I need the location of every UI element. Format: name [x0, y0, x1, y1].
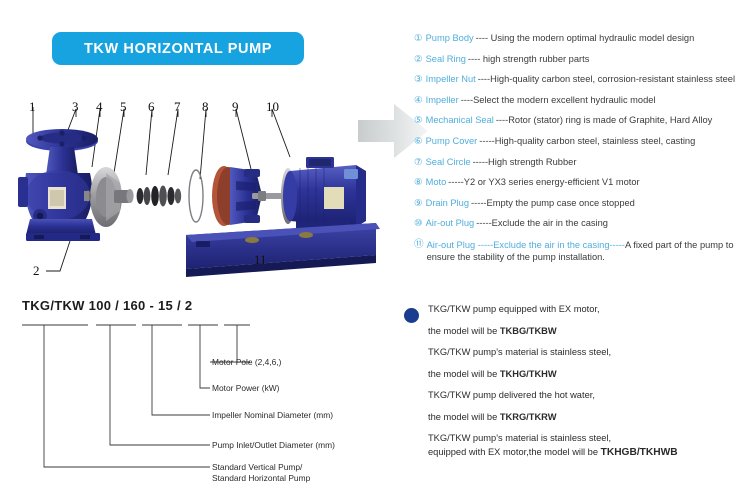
- exploded-pump-diagram: 1 3 4 5 6 7 8 9 10 2 11: [0, 95, 400, 290]
- note-text-1b: the model will be: [428, 326, 500, 336]
- pump-brochure-page: TKW HORIZONTAL PUMP: [0, 0, 756, 500]
- legend-marker-4: ④: [414, 95, 423, 106]
- seal-circle-part: [189, 170, 203, 222]
- page-title: TKW HORIZONTAL PUMP: [84, 41, 272, 57]
- note-line-2a: TKG/TKW pump's material is stainless ste…: [428, 347, 756, 358]
- impeller-nut-part: [84, 191, 91, 202]
- legend-marker-6: ⑥: [414, 136, 423, 147]
- legend-part-10: Air-out Plug: [426, 218, 475, 229]
- note-text-1a: TKG/TKW pump equipped with EX motor,: [428, 304, 600, 314]
- model-notes-block: TKG/TKW pump equipped with EX motor, the…: [404, 304, 756, 468]
- legend-item-11: ⑪ Air-out Plug -----Exclude the air in t…: [414, 239, 756, 264]
- callout-11: 11: [254, 253, 267, 266]
- callout-10: 10: [266, 100, 279, 113]
- title-banner: TKW HORIZONTAL PUMP: [52, 32, 304, 65]
- callout-3: 3: [72, 100, 79, 113]
- note-code-3b: TKRG/TKRW: [500, 412, 557, 422]
- legend-marker-10: ⑩: [414, 218, 423, 229]
- callout-5: 5: [120, 100, 127, 113]
- nom-label-motor-pole: Motor Pole (2,4,6,): [212, 357, 281, 368]
- model-notes-lines: TKG/TKW pump equipped with EX motor, the…: [428, 304, 756, 458]
- callout-9: 9: [232, 100, 239, 113]
- legend-part-5: Mechanical Seal: [426, 115, 494, 126]
- pump-illustration: [0, 95, 400, 290]
- legend-desc-8: -----Y2 or YX3 series energy-efficient V…: [448, 177, 639, 188]
- pump-body-part: [18, 129, 100, 241]
- legend-item-6: ⑥ Pump Cover -----High-quality carbon st…: [414, 136, 756, 147]
- callout-7: 7: [174, 100, 181, 113]
- legend-item-3: ③ Impeller Nut ----High-quality carbon s…: [414, 74, 756, 85]
- legend-part-9: Drain Plug: [426, 198, 469, 209]
- callout-4: 4: [96, 100, 103, 113]
- legend-desc-3: ----High-quality carbon steel, corrosion…: [478, 74, 735, 85]
- impeller-part: [90, 167, 134, 227]
- legend-marker-2: ②: [414, 54, 423, 65]
- model-nomenclature-diagram: TKG/TKW 100 / 160 - 15 / 2 Motor Pole (2…: [0, 295, 400, 495]
- note-text-2b: the model will be: [428, 369, 500, 379]
- legend-marker-5: ⑤: [414, 115, 423, 126]
- note-text-2a: TKG/TKW pump's material is stainless ste…: [428, 347, 611, 357]
- legend-desc-7: -----High strength Rubber: [473, 157, 577, 168]
- nom-label-standard-1: Standard Vertical Pump/: [212, 462, 302, 473]
- legend-item-2: ② Seal Ring ---- high strength rubber pa…: [414, 54, 756, 65]
- bullet-dot-icon: [404, 308, 419, 323]
- note-code-4b: TKHGB/TKHWB: [601, 447, 678, 458]
- legend-desc-2: ---- high strength rubber parts: [468, 54, 589, 65]
- legend-part-1: Pump Body: [426, 33, 474, 44]
- note-line-4b: equipped with EX motor,the model will be…: [428, 447, 756, 458]
- legend-desc-5: ----Rotor (stator) ring is made of Graph…: [496, 115, 712, 126]
- nom-label-standard-2: Standard Horizontal Pump: [212, 473, 310, 484]
- note-code-1b: TKBG/TKBW: [500, 326, 557, 336]
- legend-part-6: Pump Cover: [426, 136, 478, 147]
- legend-marker-8: ⑧: [414, 177, 423, 188]
- callout-6: 6: [148, 100, 155, 113]
- legend-desc-4: ----Select the modern excellent hydrauli…: [461, 95, 656, 106]
- note-line-3b: the model will be TKRG/TKRW: [428, 412, 756, 423]
- note-line-1b: the model will be TKBG/TKBW: [428, 326, 756, 337]
- note-text-4b: equipped with EX motor,the model will be: [428, 447, 601, 457]
- parts-legend-list: ① Pump Body ---- Using the modern optima…: [414, 33, 756, 274]
- legend-part-2: Seal Ring: [426, 54, 466, 65]
- legend-part-8: Moto: [426, 177, 447, 188]
- legend-marker-3: ③: [414, 74, 423, 85]
- legend-marker-7: ⑦: [414, 157, 423, 168]
- callout-2: 2: [33, 264, 40, 277]
- legend-marker-1: ①: [414, 33, 423, 44]
- callout-8: 8: [202, 100, 209, 113]
- legend-item-9: ⑨ Drain Plug -----Empty the pump case on…: [414, 198, 756, 209]
- note-text-3a: TKG/TKW pump delivered the hot water,: [428, 390, 595, 400]
- nom-label-inlet-outlet: Pump Inlet/Outlet Diameter (mm): [212, 440, 335, 451]
- note-text-4a: TKG/TKW pump's material is stainless ste…: [428, 433, 611, 443]
- base-plate-part: [186, 223, 380, 277]
- legend-part-4: Impeller: [426, 95, 459, 106]
- legend-item-4: ④ Impeller ----Select the modern excelle…: [414, 95, 756, 106]
- nomenclature-leader-lines: [0, 295, 400, 495]
- note-line-4a: TKG/TKW pump's material is stainless ste…: [428, 433, 756, 444]
- legend-desc-1: ---- Using the modern optimal hydraulic …: [476, 33, 695, 44]
- nom-label-impeller-dia: Impeller Nominal Diameter (mm): [212, 410, 333, 421]
- legend-item-5: ⑤ Mechanical Seal ----Rotor (stator) rin…: [414, 115, 756, 126]
- legend-item-10: ⑩ Air-out Plug -----Exclude the air in t…: [414, 218, 756, 229]
- motor-part: [252, 157, 366, 229]
- legend-part-7: Seal Circle: [426, 157, 471, 168]
- legend-part-11: Air-out Plug -----Exclude the air in the…: [427, 240, 625, 250]
- legend-item-7: ⑦ Seal Circle -----High strength Rubber: [414, 157, 756, 168]
- legend-marker-9: ⑨: [414, 198, 423, 209]
- nom-label-motor-power: Motor Power (kW): [212, 383, 279, 394]
- note-line-2b: the model will be TKHG/TKHW: [428, 369, 756, 380]
- legend-desc-10: -----Exclude the air in the casing: [476, 218, 608, 229]
- legend-desc-9: -----Empty the pump case once stopped: [471, 198, 635, 209]
- note-text-3b: the model will be: [428, 412, 500, 422]
- legend-item-8: ⑧ Moto -----Y2 or YX3 series energy-effi…: [414, 177, 756, 188]
- legend-desc-6: -----High-quality carbon steel, stainles…: [479, 136, 695, 147]
- note-code-2b: TKHG/TKHW: [500, 369, 557, 379]
- mechanical-seal-part: [137, 186, 182, 207]
- callout-1: 1: [29, 100, 36, 113]
- note-line-3a: TKG/TKW pump delivered the hot water,: [428, 390, 756, 401]
- legend-item-1: ① Pump Body ---- Using the modern optima…: [414, 33, 756, 44]
- note-line-1a: TKG/TKW pump equipped with EX motor,: [428, 304, 756, 315]
- legend-part-3: Impeller Nut: [426, 74, 476, 85]
- legend-marker-11: ⑪: [414, 239, 424, 250]
